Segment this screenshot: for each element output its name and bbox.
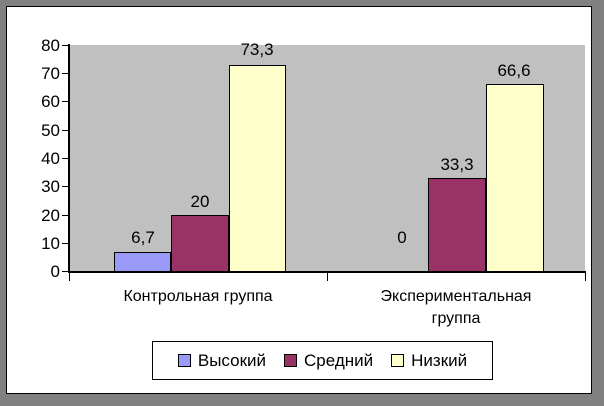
y-tick-mark-0: [62, 271, 69, 272]
bar-experimental-low[interactable]: [486, 84, 544, 272]
legend-swatch-low-icon: [391, 354, 404, 367]
legend-label-low: Низкий: [411, 352, 467, 369]
legend-item-high[interactable]: Высокий: [178, 352, 266, 369]
category-label-control-line1: Контрольная группа: [69, 286, 327, 308]
legend-label-mid: Средний: [304, 352, 373, 369]
y-tick-mark-50: [62, 130, 69, 131]
y-tick-label-50: 50: [14, 122, 60, 139]
value-label-experimental-high: 0: [369, 229, 435, 247]
legend-swatch-high-icon: [178, 354, 191, 367]
y-tick-label-60: 60: [14, 93, 60, 110]
y-tick-mark-40: [62, 158, 69, 159]
x-axis-tick-middle: [327, 273, 328, 281]
legend: Высокий Средний Низкий: [152, 341, 493, 380]
legend-item-mid[interactable]: Средний: [284, 352, 373, 369]
legend-item-low[interactable]: Низкий: [391, 352, 467, 369]
y-tick-label-80: 80: [14, 37, 60, 54]
category-label-control: Контрольная группа: [69, 286, 327, 308]
chart-frame: 80 70 60 50 40 30 20 10 0 6,7 20 73,3 0 …: [6, 6, 592, 394]
bar-experimental-mid[interactable]: [428, 178, 486, 272]
y-tick-mark-80: [62, 45, 69, 46]
bar-control-low[interactable]: [229, 65, 286, 272]
value-label-control-mid: 20: [167, 193, 233, 211]
value-label-control-low: 73,3: [224, 41, 290, 59]
value-label-experimental-mid: 33,3: [424, 156, 490, 174]
bar-control-high[interactable]: [114, 252, 171, 272]
y-tick-mark-10: [62, 243, 69, 244]
bar-control-mid[interactable]: [171, 215, 229, 272]
y-tick-label-0: 0: [14, 263, 60, 280]
x-axis-tick-left: [69, 273, 70, 281]
x-axis-tick-right: [585, 273, 586, 281]
value-label-experimental-low: 66,6: [481, 62, 547, 80]
y-tick-label-30: 30: [14, 178, 60, 195]
y-tick-label-10: 10: [14, 235, 60, 252]
category-label-experimental-line1: Экспериментальная: [327, 286, 585, 308]
y-tick-label-20: 20: [14, 207, 60, 224]
y-tick-label-40: 40: [14, 150, 60, 167]
legend-swatch-mid-icon: [284, 354, 297, 367]
legend-label-high: Высокий: [198, 352, 266, 369]
value-label-control-high: 6,7: [110, 229, 176, 247]
y-tick-mark-60: [62, 101, 69, 102]
y-tick-mark-70: [62, 73, 69, 74]
y-tick-mark-20: [62, 215, 69, 216]
y-tick-label-70: 70: [14, 65, 60, 82]
category-label-experimental: Экспериментальная группа: [327, 286, 585, 330]
category-label-experimental-line2: группа: [327, 308, 585, 330]
y-tick-mark-30: [62, 186, 69, 187]
y-axis-labels: 80 70 60 50 40 30 20 10 0: [7, 7, 60, 395]
